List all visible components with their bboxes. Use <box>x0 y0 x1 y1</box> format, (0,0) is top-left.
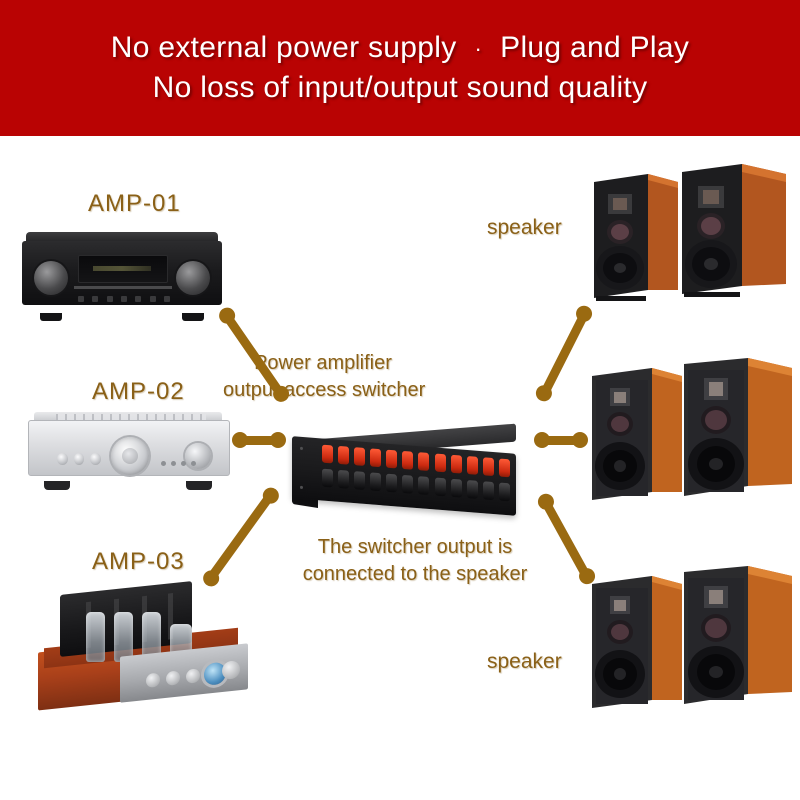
banner-line-1: No external power supply·Plug and Play <box>111 31 689 65</box>
output-caption-line-2: connected to the speaker <box>275 561 555 588</box>
header-banner: No external power supply·Plug and Play N… <box>0 0 800 136</box>
amp-03-knob <box>166 670 180 685</box>
binding-post-black[interactable] <box>483 481 494 500</box>
amp-03-label: AMP-03 <box>92 548 185 576</box>
binding-post-black[interactable] <box>354 471 365 490</box>
speaker-left <box>592 576 682 708</box>
output-caption: The switcher output is connected to the … <box>275 534 555 588</box>
amp-01-label: AMP-01 <box>88 190 181 218</box>
amp-02-foot-right <box>186 481 212 490</box>
amp-01-device <box>22 232 222 314</box>
speaker-label-top: speaker <box>487 216 562 240</box>
binding-post-red[interactable] <box>499 459 510 478</box>
amp-01-display <box>78 255 168 283</box>
speaker-pair-middle-right <box>586 358 800 510</box>
switcher-caption-line-2: output access switcher <box>223 377 423 404</box>
banner-text-no-external-power: No external power supply <box>111 31 457 64</box>
speaker-left <box>592 368 682 500</box>
amp-01-left-knob <box>34 261 68 295</box>
amp-01-divider-strip <box>74 286 172 289</box>
binding-post-black[interactable] <box>386 474 397 493</box>
amp-02-foot-left <box>44 481 70 490</box>
amp-02-volume-knob <box>111 437 149 475</box>
amp-03-power-knob <box>222 660 240 680</box>
speaker-pair-top-right <box>586 160 800 310</box>
switcher-device <box>292 432 522 518</box>
amp-02-label: AMP-02 <box>92 378 185 406</box>
vacuum-tube <box>114 612 133 662</box>
binding-post-black[interactable] <box>370 472 381 491</box>
binding-post-black[interactable] <box>499 483 510 502</box>
amp-03-device <box>38 580 248 700</box>
amp-01-foot-right <box>182 313 204 321</box>
connector-switcher-to-speaker-top <box>543 312 585 395</box>
binding-post-red[interactable] <box>370 448 381 467</box>
speaker-pair-bottom-right <box>586 558 800 710</box>
banner-separator-dot: · <box>465 36 493 61</box>
binding-post-red[interactable] <box>418 452 429 471</box>
amp-01-right-knob <box>176 261 210 295</box>
amp-02-front-panel <box>28 420 230 476</box>
binding-post-black[interactable] <box>467 480 478 499</box>
amp-01-button-row <box>78 294 170 303</box>
amp-01-front-panel <box>22 241 222 305</box>
amp-02-indicator-leds <box>161 461 201 468</box>
binding-post-black[interactable] <box>322 469 333 488</box>
amp-02-device <box>28 412 228 482</box>
binding-post-black[interactable] <box>451 479 462 498</box>
amp-02-control-knobs <box>57 453 101 469</box>
binding-post-black[interactable] <box>402 475 413 494</box>
banner-line-2: No loss of input/output sound quality <box>153 71 648 105</box>
binding-post-red[interactable] <box>483 457 494 476</box>
binding-post-black[interactable] <box>418 476 429 495</box>
binding-post-red[interactable] <box>451 455 462 474</box>
binding-post-red[interactable] <box>354 447 365 466</box>
vacuum-tube <box>86 612 105 662</box>
speaker-right <box>684 566 792 704</box>
amp-03-knob <box>186 668 200 683</box>
amp-01-foot-left <box>40 313 62 321</box>
binding-post-red[interactable] <box>322 445 333 464</box>
binding-post-black[interactable] <box>435 477 446 496</box>
binding-post-red[interactable] <box>435 453 446 472</box>
binding-post-red[interactable] <box>386 450 397 469</box>
speaker-right <box>682 164 786 297</box>
amp-03-knob <box>146 673 160 688</box>
diagram-canvas: No external power supply·Plug and Play N… <box>0 0 800 800</box>
output-caption-line-1: The switcher output is <box>275 534 555 561</box>
binding-post-red[interactable] <box>338 446 349 465</box>
binding-post-red[interactable] <box>402 451 413 470</box>
connector-amp-03-to-switcher <box>210 494 272 580</box>
binding-post-black[interactable] <box>338 470 349 489</box>
banner-text-plug-and-play: Plug and Play <box>500 31 689 64</box>
binding-post-red[interactable] <box>467 456 478 475</box>
speaker-right <box>684 358 792 496</box>
speaker-left <box>594 174 678 301</box>
speaker-label-bottom: speaker <box>487 650 562 674</box>
